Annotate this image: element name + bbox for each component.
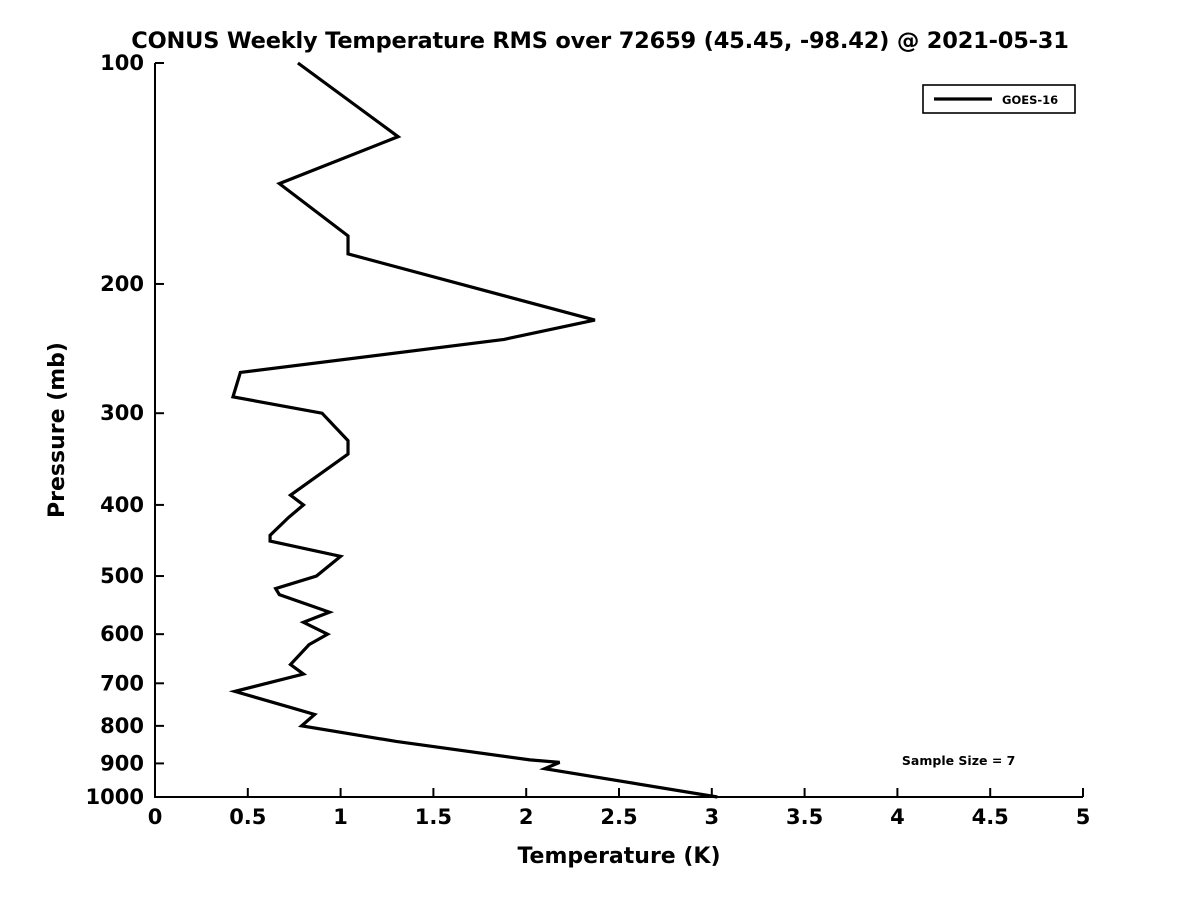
x-tick-label: 5 [1076, 805, 1091, 829]
plot-area: 00.511.522.533.544.551002003004005006007… [0, 0, 1200, 900]
x-tick-label: 2.5 [600, 805, 637, 829]
y-tick-label: 700 [100, 671, 144, 695]
x-tick-label: 3.5 [786, 805, 823, 829]
y-tick-label: 400 [100, 493, 144, 517]
x-axis-label: Temperature (K) [517, 844, 720, 869]
y-tick-label: 100 [100, 51, 144, 75]
y-tick-label: 200 [100, 272, 144, 296]
data-series-group[interactable] [233, 63, 717, 797]
y-tick-label: 300 [100, 401, 144, 425]
x-tick-label: 0 [148, 805, 163, 829]
legend-label-goes-16: GOES-16 [1002, 93, 1058, 107]
y-tick-label: 1000 [86, 785, 144, 809]
series-line-goes-16[interactable] [233, 63, 717, 797]
x-tick-label: 4 [890, 805, 905, 829]
axis-spines [155, 63, 1083, 797]
legend[interactable]: GOES-16 [923, 85, 1075, 113]
x-tick-label: 1.5 [415, 805, 452, 829]
y-axis-label: Pressure (mb) [45, 342, 70, 518]
y-tick-label: 800 [100, 714, 144, 738]
x-tick-label: 4.5 [972, 805, 1009, 829]
axis-tick-labels: 00.511.522.533.544.551002003004005006007… [86, 51, 1091, 829]
axis-ticks [155, 63, 1083, 797]
x-tick-label: 2 [519, 805, 534, 829]
sample-size-annotation: Sample Size = 7 [902, 753, 1015, 768]
y-tick-label: 500 [100, 564, 144, 588]
figure-canvas: CONUS Weekly Temperature RMS over 72659 … [0, 0, 1200, 900]
x-tick-label: 1 [333, 805, 348, 829]
y-tick-label: 900 [100, 751, 144, 775]
x-tick-label: 3 [704, 805, 719, 829]
y-tick-label: 600 [100, 622, 144, 646]
x-tick-label: 0.5 [229, 805, 266, 829]
